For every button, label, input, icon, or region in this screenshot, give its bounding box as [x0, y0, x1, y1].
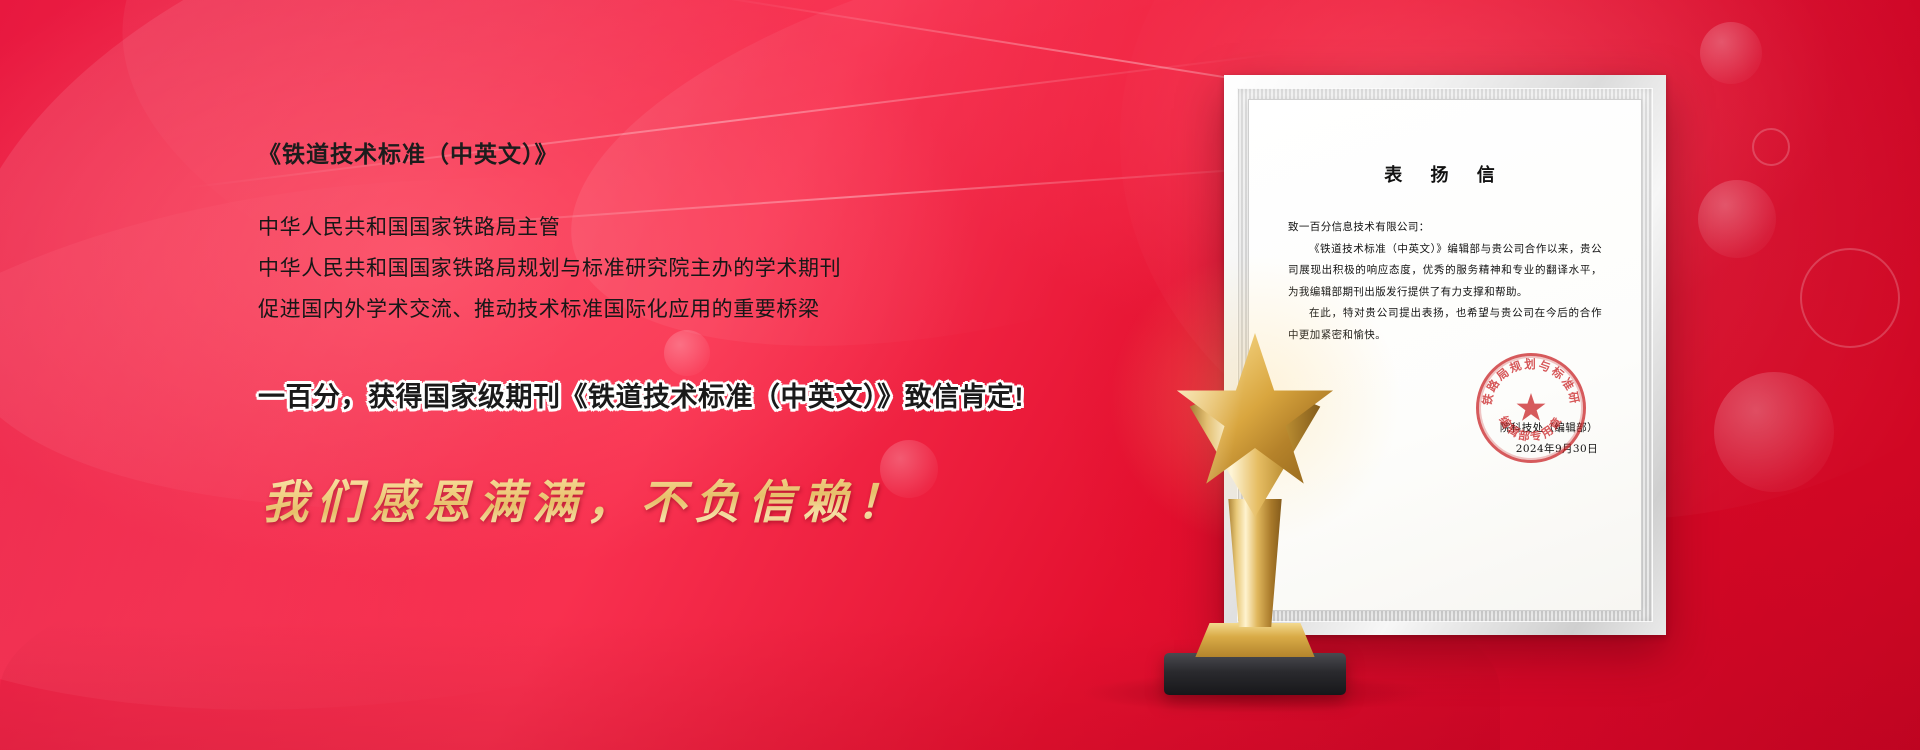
official-seal-icon: 国家铁路局规划与标准研究院 编辑部专用章 [1476, 353, 1586, 463]
trophy-award-icon [1140, 300, 1370, 695]
journal-title: 《铁道技术标准（中英文）》 [258, 140, 978, 170]
certificate-title: 表 扬 信 [1288, 161, 1602, 187]
subline-3: 促进国内外学术交流、推动技术标准国际化应用的重要桥梁 [258, 290, 978, 331]
headline: 一百分，获得国家级期刊《铁道技术标准（中英文）》致信肯定! [258, 375, 978, 414]
bokeh-circle-3 [1698, 180, 1776, 258]
bokeh-circle-1 [1700, 22, 1762, 84]
trophy-base [1164, 653, 1346, 695]
bokeh-circle-4 [1800, 248, 1900, 348]
subline-1: 中华人民共和国国家铁路局主管 [258, 208, 978, 249]
bokeh-circle-2 [1752, 128, 1790, 166]
seal-inner-textpath: 编辑部专用章 [1496, 413, 1566, 444]
seal-inner-label: 编辑部专用章 [1496, 413, 1566, 444]
trophy-stem [1226, 499, 1284, 627]
trophy-base-gold [1184, 623, 1326, 657]
promo-banner: 《铁道技术标准（中英文）》 中华人民共和国国家铁路局主管 中华人民共和国国家铁路… [0, 0, 1920, 750]
calligraphy-slogan: 我们感恩满满，不负信赖！ [262, 466, 978, 532]
bokeh-circle-5 [1714, 372, 1834, 492]
banner-copy: 《铁道技术标准（中英文）》 中华人民共和国国家铁路局主管 中华人民共和国国家铁路… [258, 140, 978, 532]
certificate-salutation: 致一百分信息技术有限公司： [1288, 217, 1602, 239]
subline-2: 中华人民共和国国家铁路局规划与标准研究院主办的学术期刊 [258, 249, 978, 290]
